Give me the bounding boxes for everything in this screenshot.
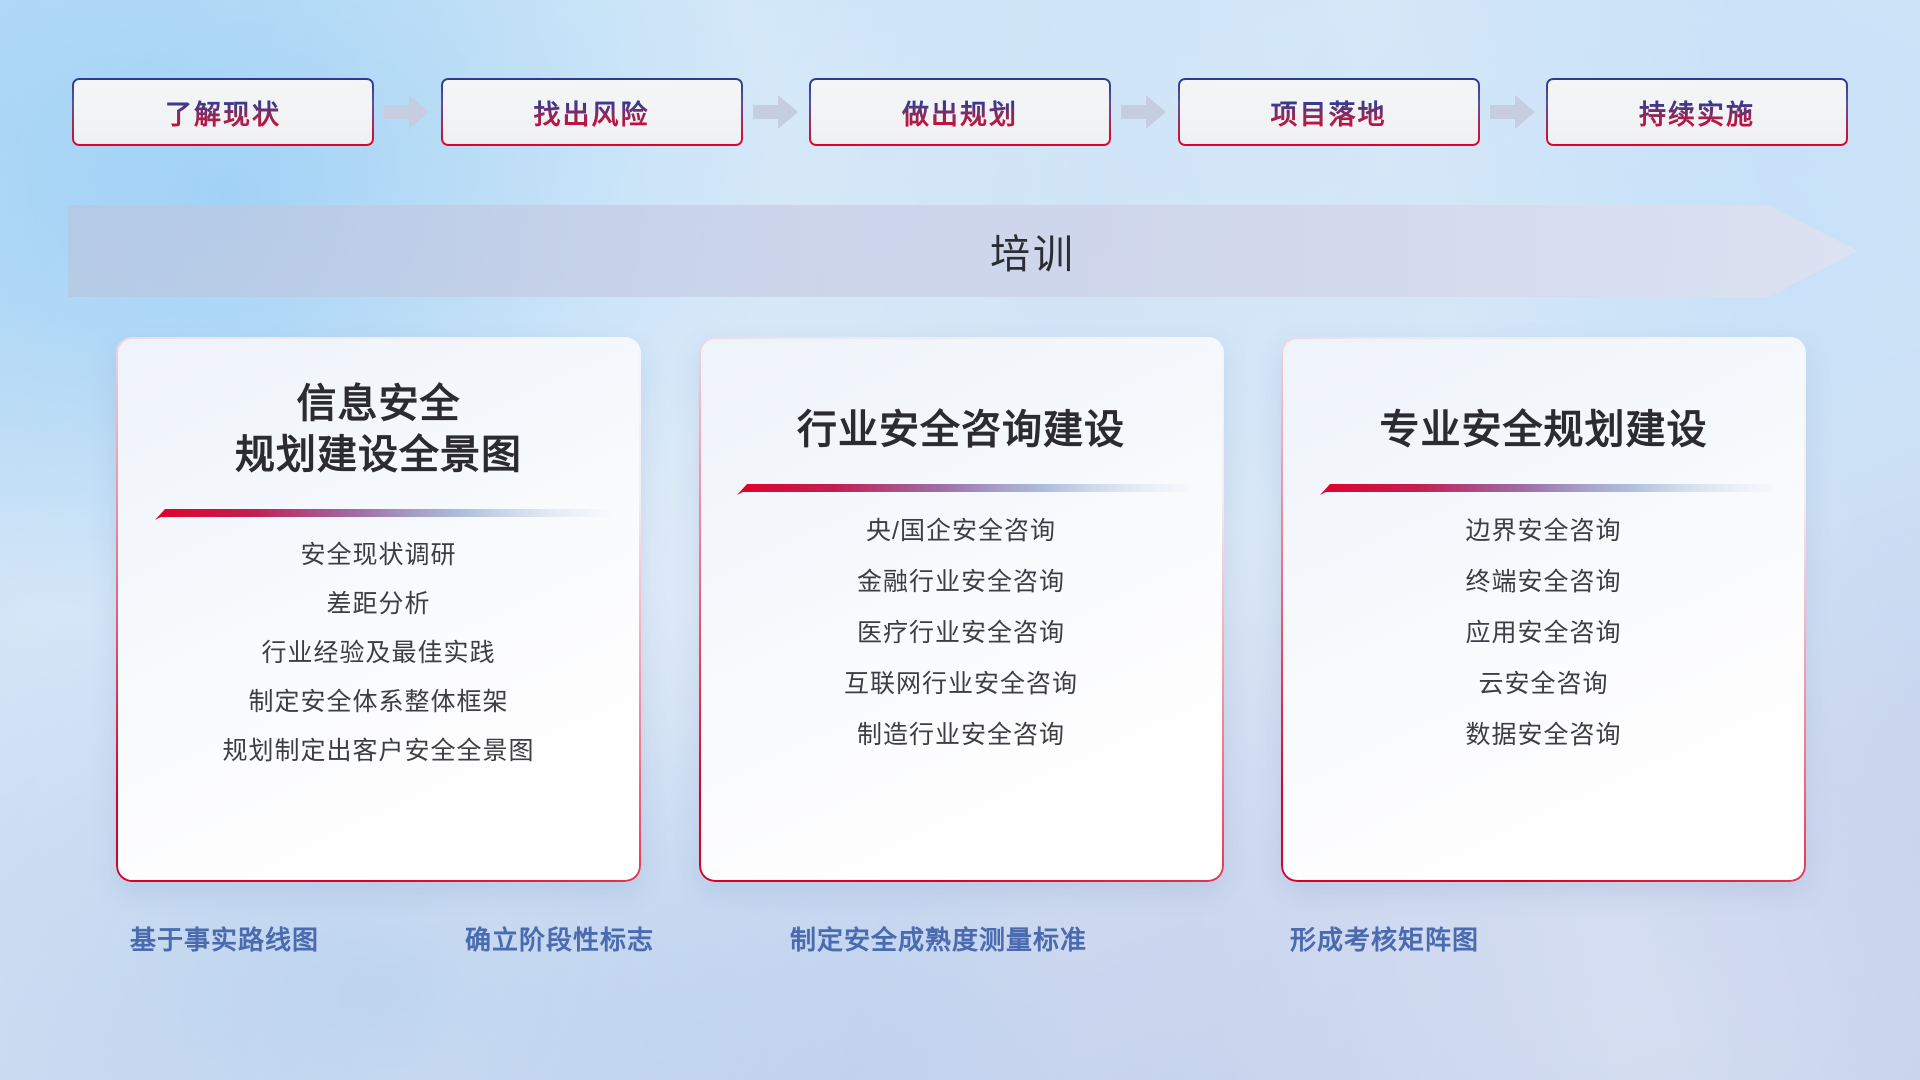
list-item: 制造行业安全咨询 bbox=[699, 710, 1224, 761]
step-box-1[interactable]: 了解现状 bbox=[72, 78, 374, 146]
process-step-row: 了解现状 找出风险 做出规划 项目落地 bbox=[72, 78, 1848, 146]
card-item-list: 央/国企安全咨询 金融行业安全咨询 医疗行业安全咨询 互联网行业安全咨询 制造行… bbox=[699, 506, 1224, 761]
arrow-right-icon bbox=[1121, 92, 1167, 132]
step-box-5[interactable]: 持续实施 bbox=[1546, 78, 1848, 146]
list-item: 行业经验及最佳实践 bbox=[116, 629, 641, 678]
step-box-3[interactable]: 做出规划 bbox=[809, 78, 1111, 146]
step-label: 项目落地 bbox=[1271, 93, 1387, 132]
caption-row: 基于事实路线图 确立阶段性标志 制定安全成熟度测量标准 形成考核矩阵图 bbox=[0, 920, 1920, 966]
list-item: 边界安全咨询 bbox=[1281, 506, 1806, 557]
step-box-4[interactable]: 项目落地 bbox=[1178, 78, 1480, 146]
card-item-list: 边界安全咨询 终端安全咨询 应用安全咨询 云安全咨询 数据安全咨询 bbox=[1281, 506, 1806, 761]
caption-milestones: 确立阶段性标志 bbox=[465, 920, 654, 957]
caption-maturity: 制定安全成熟度测量标准 bbox=[790, 920, 1087, 957]
caption-matrix: 形成考核矩阵图 bbox=[1290, 920, 1479, 957]
training-banner-label: 培训 bbox=[68, 205, 1858, 297]
step-box-2[interactable]: 找出风险 bbox=[441, 78, 743, 146]
step-label: 持续实施 bbox=[1639, 93, 1755, 132]
list-item: 安全现状调研 bbox=[116, 531, 641, 580]
card-divider bbox=[1314, 482, 1774, 496]
caption-roadmap: 基于事实路线图 bbox=[130, 920, 319, 957]
list-item: 数据安全咨询 bbox=[1281, 710, 1806, 761]
step-label: 找出风险 bbox=[534, 93, 650, 132]
card-industry-security-consulting[interactable]: 行业安全咨询建设 bbox=[699, 337, 1224, 882]
step-label: 了解现状 bbox=[165, 93, 281, 132]
card-row: 信息安全 规划建设全景图 bbox=[116, 337, 1806, 882]
list-item: 互联网行业安全咨询 bbox=[699, 659, 1224, 710]
card-information-security-panorama[interactable]: 信息安全 规划建设全景图 bbox=[116, 337, 641, 882]
list-item: 央/国企安全咨询 bbox=[699, 506, 1224, 557]
arrow-right-icon bbox=[753, 92, 799, 132]
card-divider bbox=[149, 507, 609, 521]
list-item: 医疗行业安全咨询 bbox=[699, 608, 1224, 659]
card-item-list: 安全现状调研 差距分析 行业经验及最佳实践 制定安全体系整体框架 规划制定出客户… bbox=[116, 531, 641, 776]
list-item: 金融行业安全咨询 bbox=[699, 557, 1224, 608]
card-divider bbox=[731, 482, 1191, 496]
card-title: 专业安全规划建设 bbox=[1380, 405, 1708, 456]
slide-canvas: 了解现状 找出风险 做出规划 项目落地 bbox=[0, 0, 1920, 1080]
arrow-right-icon bbox=[1490, 92, 1536, 132]
card-title: 信息安全 规划建设全景图 bbox=[235, 379, 522, 481]
card-title: 行业安全咨询建设 bbox=[797, 405, 1125, 456]
list-item: 应用安全咨询 bbox=[1281, 608, 1806, 659]
card-professional-security-planning[interactable]: 专业安全规划建设 bbox=[1281, 337, 1806, 882]
training-banner: 培训 bbox=[68, 205, 1858, 297]
list-item: 终端安全咨询 bbox=[1281, 557, 1806, 608]
list-item: 规划制定出客户安全全景图 bbox=[116, 727, 641, 776]
step-label: 做出规划 bbox=[902, 93, 1018, 132]
list-item: 差距分析 bbox=[116, 580, 641, 629]
list-item: 云安全咨询 bbox=[1281, 659, 1806, 710]
arrow-right-icon bbox=[384, 92, 430, 132]
list-item: 制定安全体系整体框架 bbox=[116, 678, 641, 727]
